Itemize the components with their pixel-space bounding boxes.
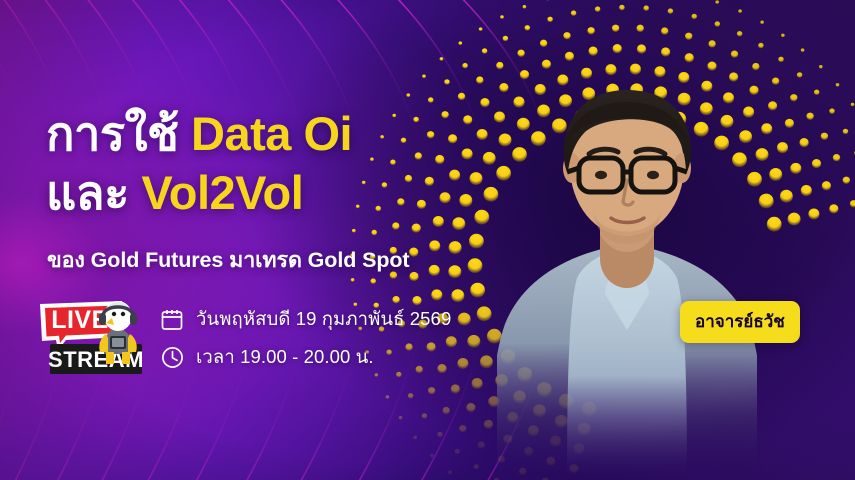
calendar-icon: [160, 307, 185, 332]
headline-line-2: และ Vol2Vol: [46, 163, 466, 222]
promo-banner: การใช้ Data Oi และ Vol2Vol ของ Gold Futu…: [0, 0, 855, 480]
headline-line-1-white: การใช้: [46, 107, 178, 160]
headline-line-2-yellow: Vol2Vol: [141, 166, 303, 219]
info-date-text: วันพฤหัสบดี 19 กุมภาพันธ์ 2569: [196, 305, 451, 334]
headline-line-1: การใช้ Data Oi: [46, 104, 466, 163]
headline-line-2-white: และ: [46, 166, 129, 219]
headline-subtitle: ของ Gold Futures มาเทรด Gold Spot: [47, 243, 409, 277]
headline-line-1-yellow: Data Oi: [191, 107, 352, 160]
speaker-portrait: [497, 62, 757, 480]
info-time-text: เวลา 19.00 - 20.00 น.: [196, 343, 374, 372]
speaker-name-badge: อาจารย์ธวัช: [680, 301, 800, 343]
headline-block: การใช้ Data Oi และ Vol2Vol: [46, 104, 466, 222]
event-info-block: วันพฤหัสบดี 19 กุมภาพันธ์ 2569 เวลา 19.0…: [160, 302, 451, 378]
live-stream-badge: LIVE STREAM: [36, 292, 156, 380]
info-row-time: เวลา 19.00 - 20.00 น.: [160, 340, 451, 374]
clock-icon: [160, 345, 185, 370]
info-row-date: วันพฤหัสบดี 19 กุมภาพันธ์ 2569: [160, 302, 451, 336]
